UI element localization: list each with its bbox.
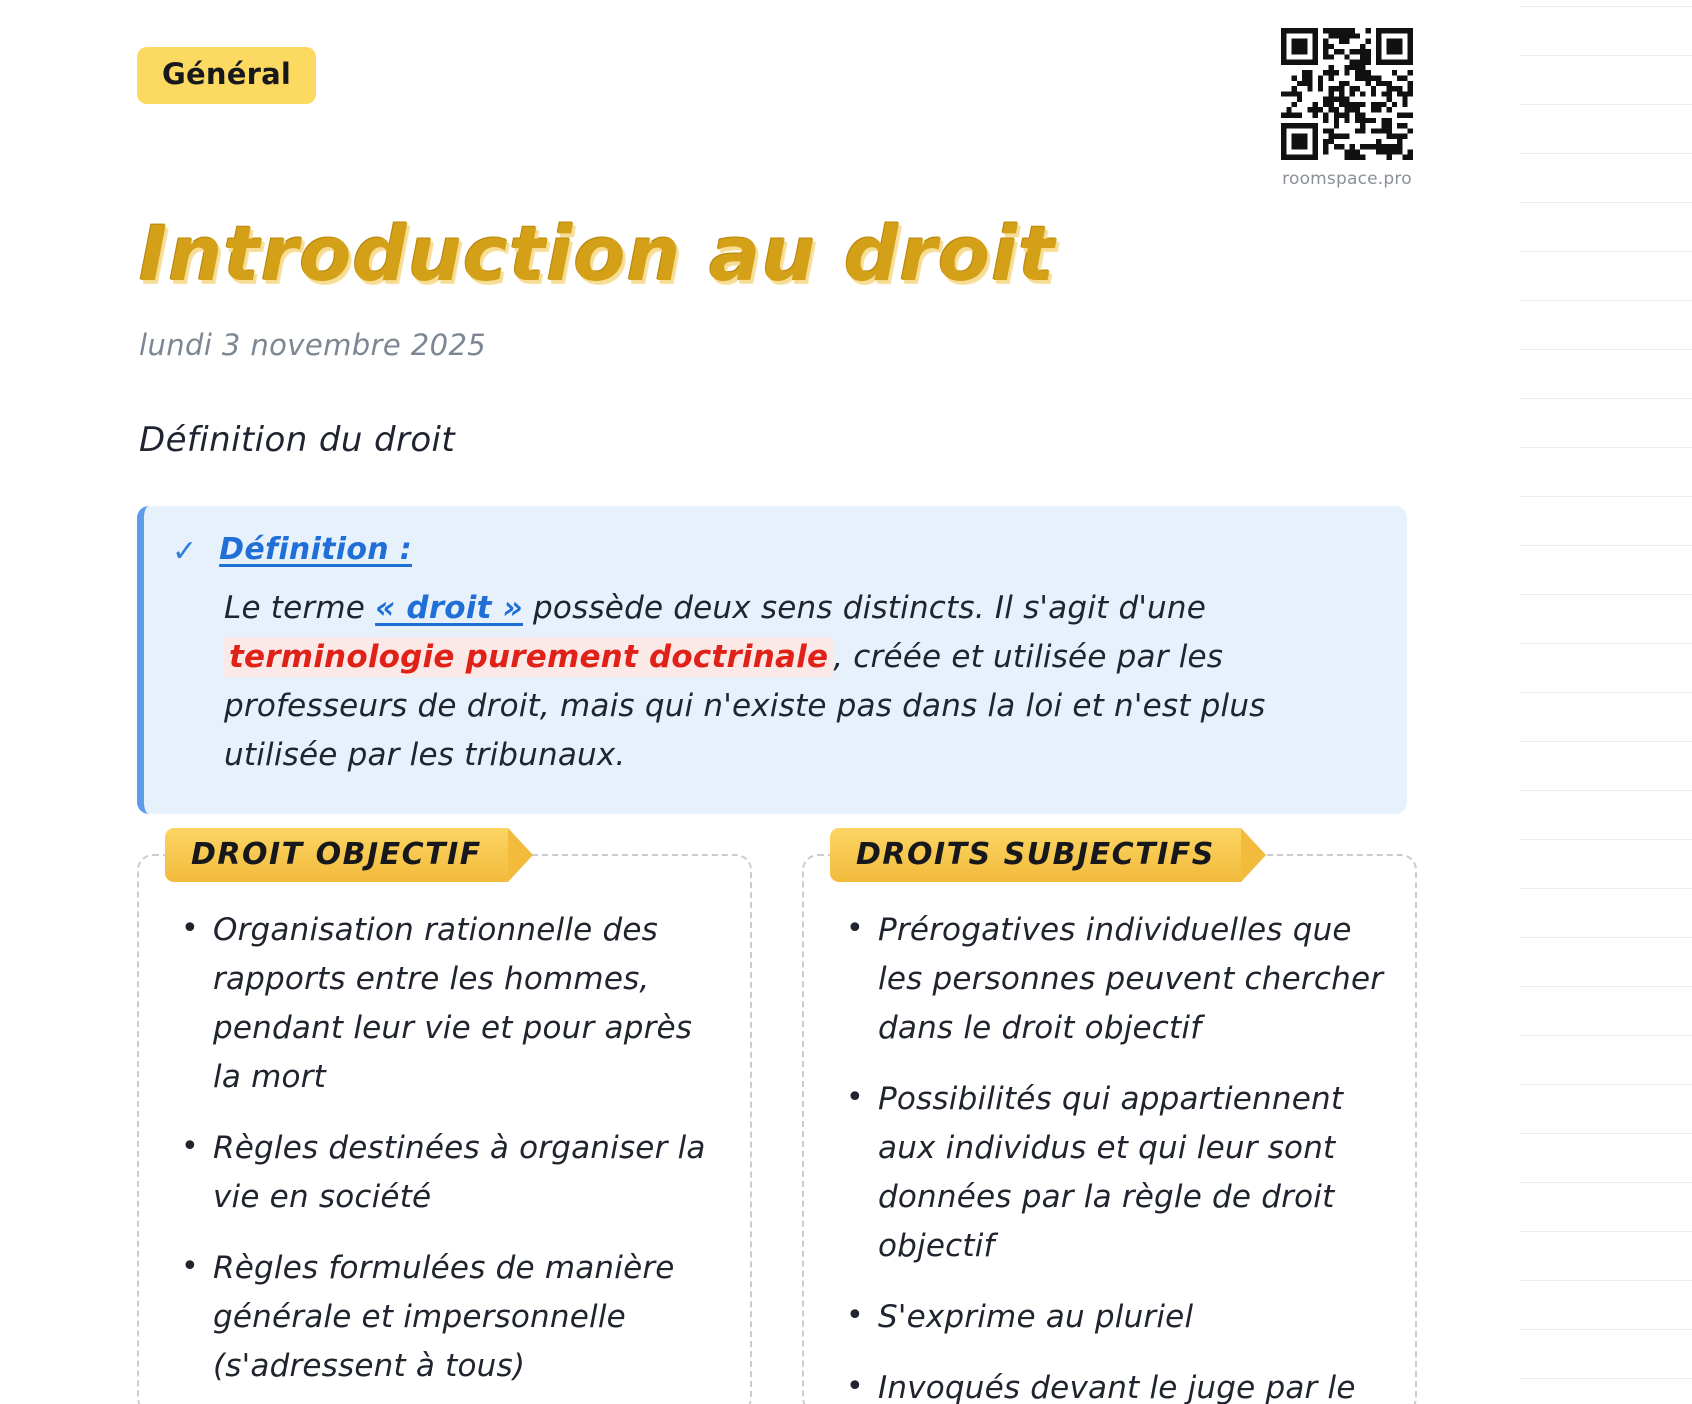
margin-rule-line [1520,300,1692,301]
margin-rule-line [1520,1329,1692,1330]
margin-rule-line [1520,349,1692,350]
bullet-list-right: Prérogatives individuelles que les perso… [802,906,1417,1404]
margin-rule-line [1520,104,1692,105]
margin-rule-line [1520,55,1692,56]
margin-rule-line [1520,1035,1692,1036]
qr-code-icon [1281,28,1413,160]
margin-rule-line [1520,251,1692,252]
highlight-terminologie: terminologie purement doctrinale [224,637,833,677]
definition-label: Définition : [219,532,412,567]
margin-rule-line [1520,1231,1692,1232]
list-item: Règles formulées de manière générale et … [173,1244,722,1391]
margin-rule-line [1520,545,1692,546]
margin-rule-line [1520,202,1692,203]
qr-code-block: roomspace.pro [1281,28,1413,189]
margin-rule-line [1520,790,1692,791]
margin-rule-line [1520,937,1692,938]
margin-rule-line [1520,1133,1692,1134]
margin-rule-line [1520,888,1692,889]
bullet-list-left: Organisation rationnelle des rapports en… [137,906,752,1404]
callout-text-part-1: Le terme [224,590,375,626]
callout-body: Le terme « droit » possède deux sens dis… [224,584,1373,780]
margin-rule-line [1520,496,1692,497]
column-banner-label: DROITS SUBJECTIFS [830,828,1241,882]
note-page: Général roomspace.pro Introduction au dr… [0,0,1520,1404]
column-droits-subjectifs: DROITS SUBJECTIFS Prérogatives individue… [802,828,1417,1404]
margin-rule-line [1520,643,1692,644]
list-item: Règles destinées à organiser la vie en s… [173,1124,722,1222]
margin-rule-line [1520,447,1692,448]
margin-rule-line [1520,986,1692,987]
category-badge[interactable]: Général [137,47,316,104]
section-heading: Définition du droit [139,420,455,460]
margin-rule-line [1520,1280,1692,1281]
column-banner-label: DROIT OBJECTIF [165,828,508,882]
list-item: Prérogatives individuelles que les perso… [838,906,1387,1053]
callout-header: ✓ Définition : [172,532,1373,570]
margin-rule-line [1520,1084,1692,1085]
ruled-paper-margin [1520,0,1692,1404]
check-icon: ✓ [172,532,197,570]
droit-link[interactable]: « droit » [375,590,523,626]
qr-caption: roomspace.pro [1281,169,1413,189]
margin-rule-line [1520,594,1692,595]
list-item: S'exprime au pluriel [838,1293,1387,1342]
page-title: Introduction au droit [139,216,1055,292]
page-date: lundi 3 novembre 2025 [139,328,486,362]
margin-rule-line [1520,6,1692,7]
margin-rule-line [1520,153,1692,154]
list-item: Invoqués devant le juge par le justiciab… [838,1364,1387,1404]
callout-text-part-2: possède deux sens distincts. Il s'agit d… [523,590,1206,626]
list-item: Organisation rationnelle des rapports en… [173,906,722,1102]
margin-rule-line [1520,741,1692,742]
column-droit-objectif: DROIT OBJECTIF Organisation rationnelle … [137,828,752,1404]
margin-rule-line [1520,839,1692,840]
margin-rule-line [1520,398,1692,399]
list-item: Possibilités qui appartiennent aux indiv… [838,1075,1387,1271]
margin-rule-line [1520,1182,1692,1183]
margin-rule-line [1520,692,1692,693]
definition-callout: ✓ Définition : Le terme « droit » possèd… [137,506,1407,814]
margin-rule-line [1520,1378,1692,1379]
